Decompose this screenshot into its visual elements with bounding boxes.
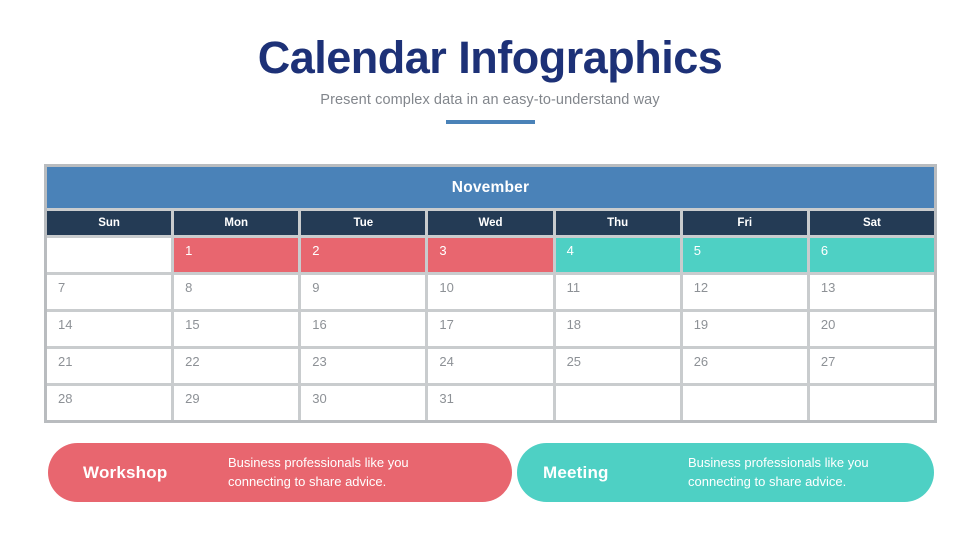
legend-label-meeting: Meeting: [543, 463, 688, 483]
calendar-day-cell-empty[interactable]: [556, 386, 680, 420]
calendar-day-cell-empty[interactable]: [810, 386, 934, 420]
legend-description-workshop: Business professionals like youconnectin…: [228, 454, 409, 492]
weekday-header-sat: Sat: [810, 211, 934, 235]
calendar-day-cell[interactable]: 25: [556, 349, 680, 383]
weekday-header-fri: Fri: [683, 211, 807, 235]
calendar-day-cell[interactable]: 7: [47, 275, 171, 309]
legend-description-line1: Business professionals like you: [688, 454, 869, 473]
calendar-day-cell[interactable]: 13: [810, 275, 934, 309]
calendar-day-cell-empty[interactable]: [47, 238, 171, 272]
weekday-header-row: SunMonTueWedThuFriSat: [47, 211, 934, 235]
calendar-week-row: 78910111213: [47, 275, 934, 309]
calendar-day-cell[interactable]: 18: [556, 312, 680, 346]
calendar-day-cell[interactable]: 15: [174, 312, 298, 346]
calendar-day-cell[interactable]: 16: [301, 312, 425, 346]
weekday-header-sun: Sun: [47, 211, 171, 235]
title-divider: [446, 120, 535, 124]
page-subtitle: Present complex data in an easy-to-under…: [0, 92, 980, 108]
legend-description-line2: connecting to share advice.: [688, 473, 869, 492]
calendar-week-row: 14151617181920: [47, 312, 934, 346]
page-title: Calendar Infographics: [0, 34, 980, 81]
calendar-week-row: 21222324252627: [47, 349, 934, 383]
calendar-week-row: 123456: [47, 238, 934, 272]
calendar-day-cell[interactable]: 22: [174, 349, 298, 383]
calendar-day-cell[interactable]: 6: [810, 238, 934, 272]
calendar-day-cell[interactable]: 28: [47, 386, 171, 420]
calendar-day-cell[interactable]: 9: [301, 275, 425, 309]
legend-description-line1: Business professionals like you: [228, 454, 409, 473]
calendar-day-cell-empty[interactable]: [683, 386, 807, 420]
legend-pill-workshop[interactable]: WorkshopBusiness professionals like youc…: [48, 443, 512, 502]
calendar-day-cell[interactable]: 19: [683, 312, 807, 346]
calendar-day-cell[interactable]: 10: [428, 275, 552, 309]
calendar-day-cell[interactable]: 17: [428, 312, 552, 346]
calendar-week-row: 28293031: [47, 386, 934, 420]
calendar-day-cell[interactable]: 20: [810, 312, 934, 346]
weekday-header-tue: Tue: [301, 211, 425, 235]
slide-canvas: Calendar Infographics Present complex da…: [0, 0, 980, 551]
legend-description-line2: connecting to share advice.: [228, 473, 409, 492]
calendar-day-cell[interactable]: 24: [428, 349, 552, 383]
calendar-day-cell[interactable]: 4: [556, 238, 680, 272]
calendar-day-cell[interactable]: 12: [683, 275, 807, 309]
calendar-body: 1234567891011121314151617181920212223242…: [47, 238, 934, 420]
header-block: Calendar Infographics Present complex da…: [0, 34, 980, 124]
calendar-day-cell[interactable]: 29: [174, 386, 298, 420]
calendar-day-cell[interactable]: 27: [810, 349, 934, 383]
legend-description-meeting: Business professionals like youconnectin…: [688, 454, 869, 492]
weekday-header-wed: Wed: [428, 211, 552, 235]
calendar-day-cell[interactable]: 31: [428, 386, 552, 420]
calendar-day-cell[interactable]: 2: [301, 238, 425, 272]
calendar-day-cell[interactable]: 14: [47, 312, 171, 346]
calendar-day-cell[interactable]: 1: [174, 238, 298, 272]
legend-label-workshop: Workshop: [83, 463, 228, 483]
calendar-day-cell[interactable]: 26: [683, 349, 807, 383]
month-header: November: [47, 167, 934, 208]
calendar-day-cell[interactable]: 11: [556, 275, 680, 309]
calendar-day-cell[interactable]: 30: [301, 386, 425, 420]
calendar-day-cell[interactable]: 8: [174, 275, 298, 309]
calendar-day-cell[interactable]: 5: [683, 238, 807, 272]
legend-row: WorkshopBusiness professionals like youc…: [48, 443, 934, 502]
calendar-table: November SunMonTueWedThuFriSat 123456789…: [44, 164, 937, 423]
legend-pill-meeting[interactable]: MeetingBusiness professionals like youco…: [517, 443, 934, 502]
weekday-header-mon: Mon: [174, 211, 298, 235]
divider-wrapper: [0, 120, 980, 124]
calendar-day-cell[interactable]: 21: [47, 349, 171, 383]
weekday-header-thu: Thu: [556, 211, 680, 235]
calendar-day-cell[interactable]: 23: [301, 349, 425, 383]
calendar-day-cell[interactable]: 3: [428, 238, 552, 272]
